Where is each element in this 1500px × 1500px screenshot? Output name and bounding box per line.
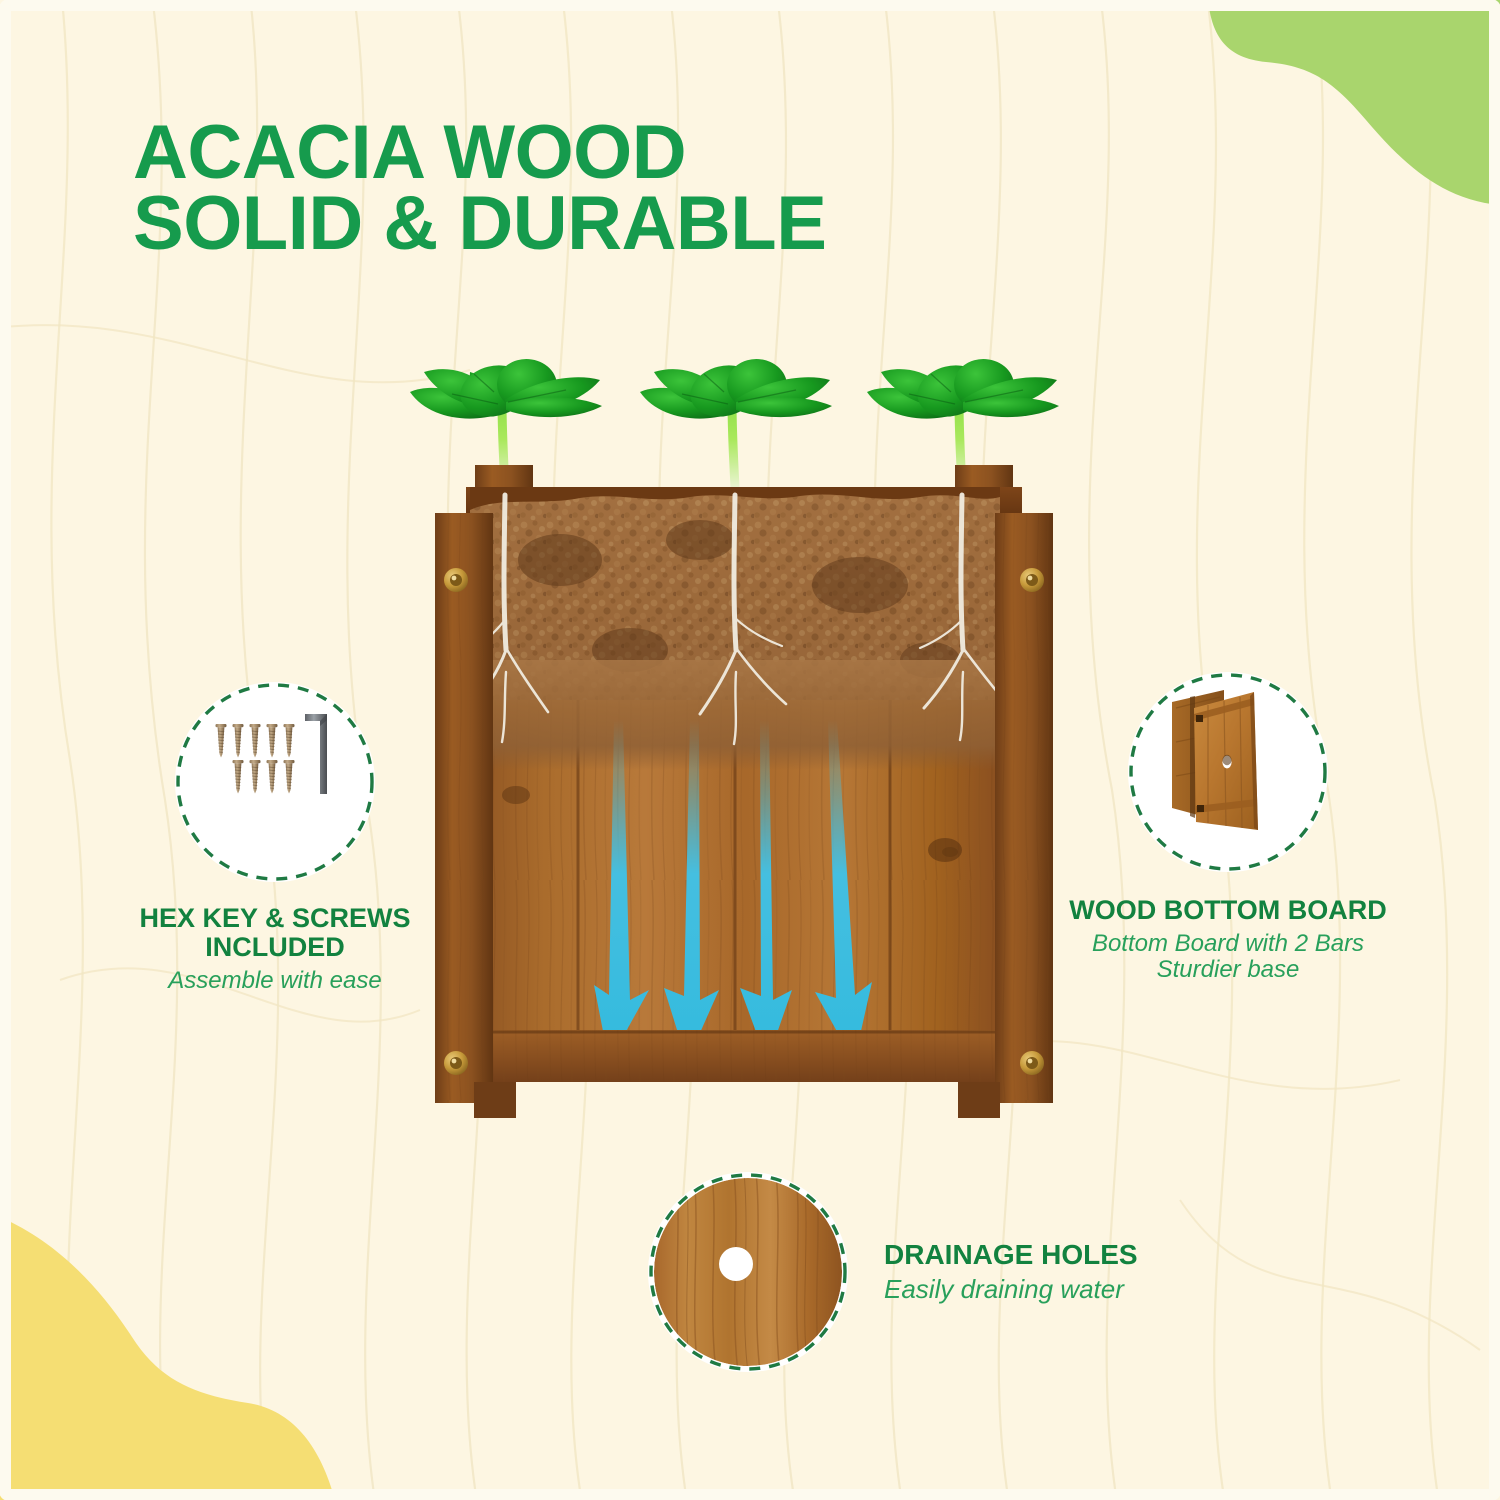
leg-right <box>958 1082 1000 1118</box>
hex-key-screws-icon-circle <box>175 682 375 882</box>
brass-screw <box>1020 1051 1044 1075</box>
seedling <box>640 357 832 487</box>
hex-key-and-screws-icon <box>175 682 375 882</box>
feature-subtitle: Assemble with ease <box>130 968 420 995</box>
feature-drainage-holes: DRAINAGE HOLES Easily draining water <box>648 1172 1208 1372</box>
wood-bottom-board-icon <box>1128 672 1328 872</box>
feature-hex-key-screws: HEX KEY & SCREWS INCLUDED Assemble with … <box>130 682 420 995</box>
wood-bottom-board-icon-circle <box>1128 672 1328 872</box>
feature-wood-bottom-board: WOOD BOTTOM BOARD Bottom Board with 2 Ba… <box>1048 672 1408 984</box>
drainage-hole-icon-circle <box>648 1172 848 1372</box>
feature-title: DRAINAGE HOLES <box>884 1240 1208 1270</box>
feature-subtitle: Easily draining water <box>884 1275 1208 1304</box>
infographic-canvas: ACACIA WOOD SOLID & DURABLE <box>0 0 1500 1500</box>
feature-title: WOOD BOTTOM BOARD <box>1048 896 1408 925</box>
brass-screw <box>444 1051 468 1075</box>
feature-subtitle: Bottom Board with 2 Bars Sturdier base <box>1048 931 1408 985</box>
feature-title: HEX KEY & SCREWS INCLUDED <box>130 904 420 961</box>
leg-left <box>474 1082 516 1118</box>
hex-key-icon <box>305 714 327 794</box>
brass-screw <box>1020 568 1044 592</box>
dashed-ring <box>648 1172 848 1372</box>
drainage-holes-caption: DRAINAGE HOLES Easily draining water <box>884 1240 1208 1304</box>
brass-screw <box>444 568 468 592</box>
